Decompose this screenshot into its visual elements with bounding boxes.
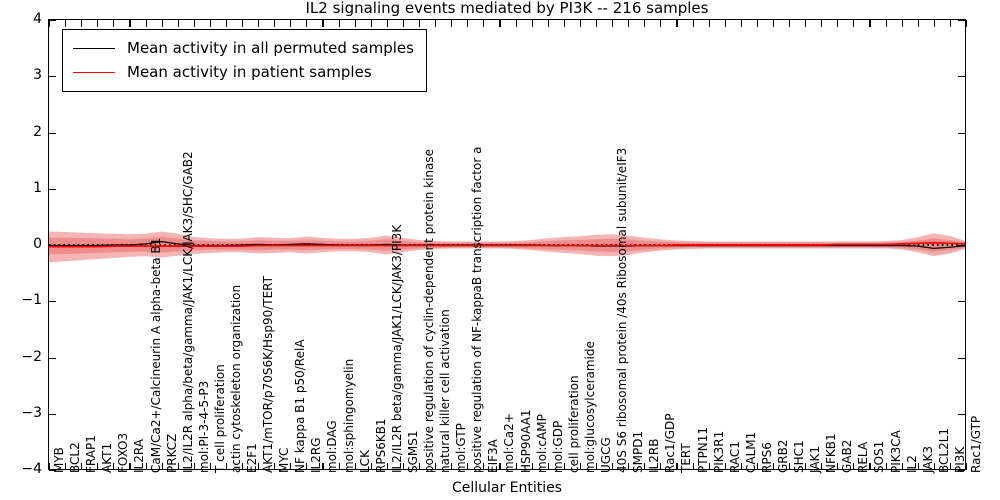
x-tick-mark (950, 463, 951, 470)
x-tick-mark (65, 463, 66, 470)
y-tick-label: −1 (21, 293, 42, 307)
x-tick-mark (741, 463, 742, 470)
x-tick-mark (516, 463, 517, 470)
x-tick-mark (306, 463, 307, 470)
y-tick-label: 3 (33, 68, 42, 82)
x-tick-mark (210, 463, 211, 470)
y-tick-mark (958, 414, 965, 415)
x-tick-mark (226, 463, 227, 470)
x-tick-mark (403, 20, 404, 27)
x-tick-mark (886, 20, 887, 27)
x-tick-mark (950, 20, 951, 27)
x-axis-title: Cellular Entities (48, 480, 966, 496)
y-tick-mark (49, 245, 56, 246)
y-tick-mark (958, 20, 965, 21)
x-tick-mark (467, 463, 468, 470)
x-tick-mark (387, 463, 388, 470)
x-tick-mark (789, 20, 790, 27)
x-tick-mark (773, 463, 774, 470)
x-tick-mark (49, 463, 50, 470)
x-tick-mark (129, 463, 130, 470)
y-tick-mark (958, 133, 965, 134)
x-tick-mark (902, 20, 903, 27)
x-tick-mark (644, 20, 645, 27)
y-tick-label: 0 (33, 237, 42, 251)
x-tick-mark (693, 463, 694, 470)
x-tick-mark (290, 20, 291, 27)
x-tick-mark (162, 20, 163, 27)
y-tick-label: −3 (21, 406, 42, 420)
x-tick-mark (290, 463, 291, 470)
y-tick-mark (958, 76, 965, 77)
x-tick-mark (821, 463, 822, 470)
y-tick-mark (49, 358, 56, 359)
x-tick-mark (435, 20, 436, 27)
x-tick-mark (162, 463, 163, 470)
y-tick-mark (958, 245, 965, 246)
x-tick-mark (435, 463, 436, 470)
x-tick-mark (934, 463, 935, 470)
x-tick-mark (709, 463, 710, 470)
x-tick-mark (274, 20, 275, 27)
x-tick-mark (725, 463, 726, 470)
chart-title: IL2 signaling events mediated by PI3K --… (48, 0, 966, 17)
x-tick-mark (853, 463, 854, 470)
x-tick-mark (644, 463, 645, 470)
x-tick-mark (548, 463, 549, 470)
y-tick-label: 4 (33, 12, 42, 26)
y-tick-label: −2 (21, 350, 42, 364)
y-tick-mark (958, 470, 965, 471)
x-tick-mark (837, 463, 838, 470)
x-tick-mark (403, 463, 404, 470)
x-tick-mark (97, 20, 98, 27)
x-tick-mark (837, 20, 838, 27)
x-tick-mark (355, 20, 356, 27)
legend-color-swatch (73, 72, 115, 73)
x-tick-mark (805, 20, 806, 27)
x-tick-mark (258, 20, 259, 27)
x-tick-mark (483, 20, 484, 27)
x-tick-mark (129, 20, 130, 27)
x-tick-mark (564, 20, 565, 27)
x-tick-mark (580, 20, 581, 27)
x-tick-mark (97, 463, 98, 470)
x-tick-mark (419, 463, 420, 470)
x-tick-label: Rac1/GTP (970, 416, 982, 473)
x-tick-mark (869, 463, 870, 470)
legend-color-swatch (73, 48, 115, 49)
x-tick-mark (242, 463, 243, 470)
x-tick-mark (516, 20, 517, 27)
x-tick-mark (49, 20, 50, 27)
x-tick-mark (564, 463, 565, 470)
x-tick-mark (194, 20, 195, 27)
x-tick-mark (741, 20, 742, 27)
y-tick-mark (958, 189, 965, 190)
x-tick-mark (596, 20, 597, 27)
x-tick-mark (902, 463, 903, 470)
x-tick-mark (612, 463, 613, 470)
x-tick-mark (146, 20, 147, 27)
chart-root: IL2 signaling events mediated by PI3K --… (0, 0, 1000, 500)
x-tick-mark (934, 20, 935, 27)
y-tick-label: 1 (33, 181, 42, 195)
x-tick-mark (580, 463, 581, 470)
legend-label: Mean activity in patient samples (127, 65, 372, 80)
x-tick-mark (65, 20, 66, 27)
x-tick-mark (773, 20, 774, 27)
x-tick-mark (869, 20, 870, 27)
x-tick-mark (709, 20, 710, 27)
chart-legend: Mean activity in all permuted samplesMea… (62, 29, 427, 92)
x-tick-mark (371, 20, 372, 27)
x-tick-mark (419, 20, 420, 27)
x-tick-mark (660, 463, 661, 470)
x-tick-mark (146, 463, 147, 470)
x-tick-mark (966, 463, 967, 470)
x-tick-mark (387, 20, 388, 27)
x-tick-mark (548, 20, 549, 27)
x-tick-mark (194, 463, 195, 470)
x-tick-mark (628, 463, 629, 470)
x-tick-mark (451, 463, 452, 470)
x-tick-mark (532, 463, 533, 470)
x-tick-mark (322, 463, 323, 470)
x-tick-mark (483, 463, 484, 470)
y-tick-mark (49, 301, 56, 302)
y-tick-mark (958, 358, 965, 359)
x-tick-mark (612, 20, 613, 27)
x-tick-mark (113, 20, 114, 27)
x-tick-mark (805, 463, 806, 470)
x-tick-mark (693, 20, 694, 27)
x-tick-mark (596, 463, 597, 470)
x-tick-mark (371, 463, 372, 470)
legend-label: Mean activity in all permuted samples (127, 41, 414, 56)
x-tick-mark (789, 463, 790, 470)
x-tick-mark (757, 20, 758, 27)
x-tick-mark (274, 463, 275, 470)
y-tick-mark (49, 470, 56, 471)
x-tick-mark (725, 20, 726, 27)
x-tick-mark (676, 463, 677, 470)
x-tick-mark (886, 463, 887, 470)
x-tick-mark (676, 20, 677, 27)
x-tick-mark (178, 463, 179, 470)
x-tick-mark (355, 463, 356, 470)
x-tick-mark (918, 463, 919, 470)
x-tick-mark (242, 20, 243, 27)
x-tick-mark (178, 20, 179, 27)
x-tick-mark (660, 20, 661, 27)
x-tick-mark (499, 463, 500, 470)
y-tick-mark (49, 133, 56, 134)
x-tick-mark (918, 20, 919, 27)
x-tick-mark (226, 20, 227, 27)
x-tick-mark (966, 20, 967, 27)
x-tick-mark (210, 20, 211, 27)
x-tick-mark (467, 20, 468, 27)
x-tick-mark (306, 20, 307, 27)
x-tick-mark (757, 463, 758, 470)
x-tick-mark (628, 20, 629, 27)
x-tick-mark (113, 463, 114, 470)
x-tick-mark (81, 20, 82, 27)
y-tick-mark (958, 301, 965, 302)
x-tick-mark (451, 20, 452, 27)
x-tick-mark (339, 463, 340, 470)
y-tick-mark (49, 189, 56, 190)
legend-entry: Mean activity in all permuted samples (73, 36, 414, 60)
legend-entry: Mean activity in patient samples (73, 60, 414, 84)
y-tick-label: 2 (33, 125, 42, 139)
x-tick-mark (821, 20, 822, 27)
x-tick-mark (322, 20, 323, 27)
x-tick-mark (499, 20, 500, 27)
y-tick-mark (49, 76, 56, 77)
x-tick-mark (853, 20, 854, 27)
y-tick-label: −4 (21, 462, 42, 476)
x-tick-mark (339, 20, 340, 27)
x-tick-mark (81, 463, 82, 470)
y-tick-mark (49, 414, 56, 415)
x-tick-mark (532, 20, 533, 27)
x-tick-mark (258, 463, 259, 470)
